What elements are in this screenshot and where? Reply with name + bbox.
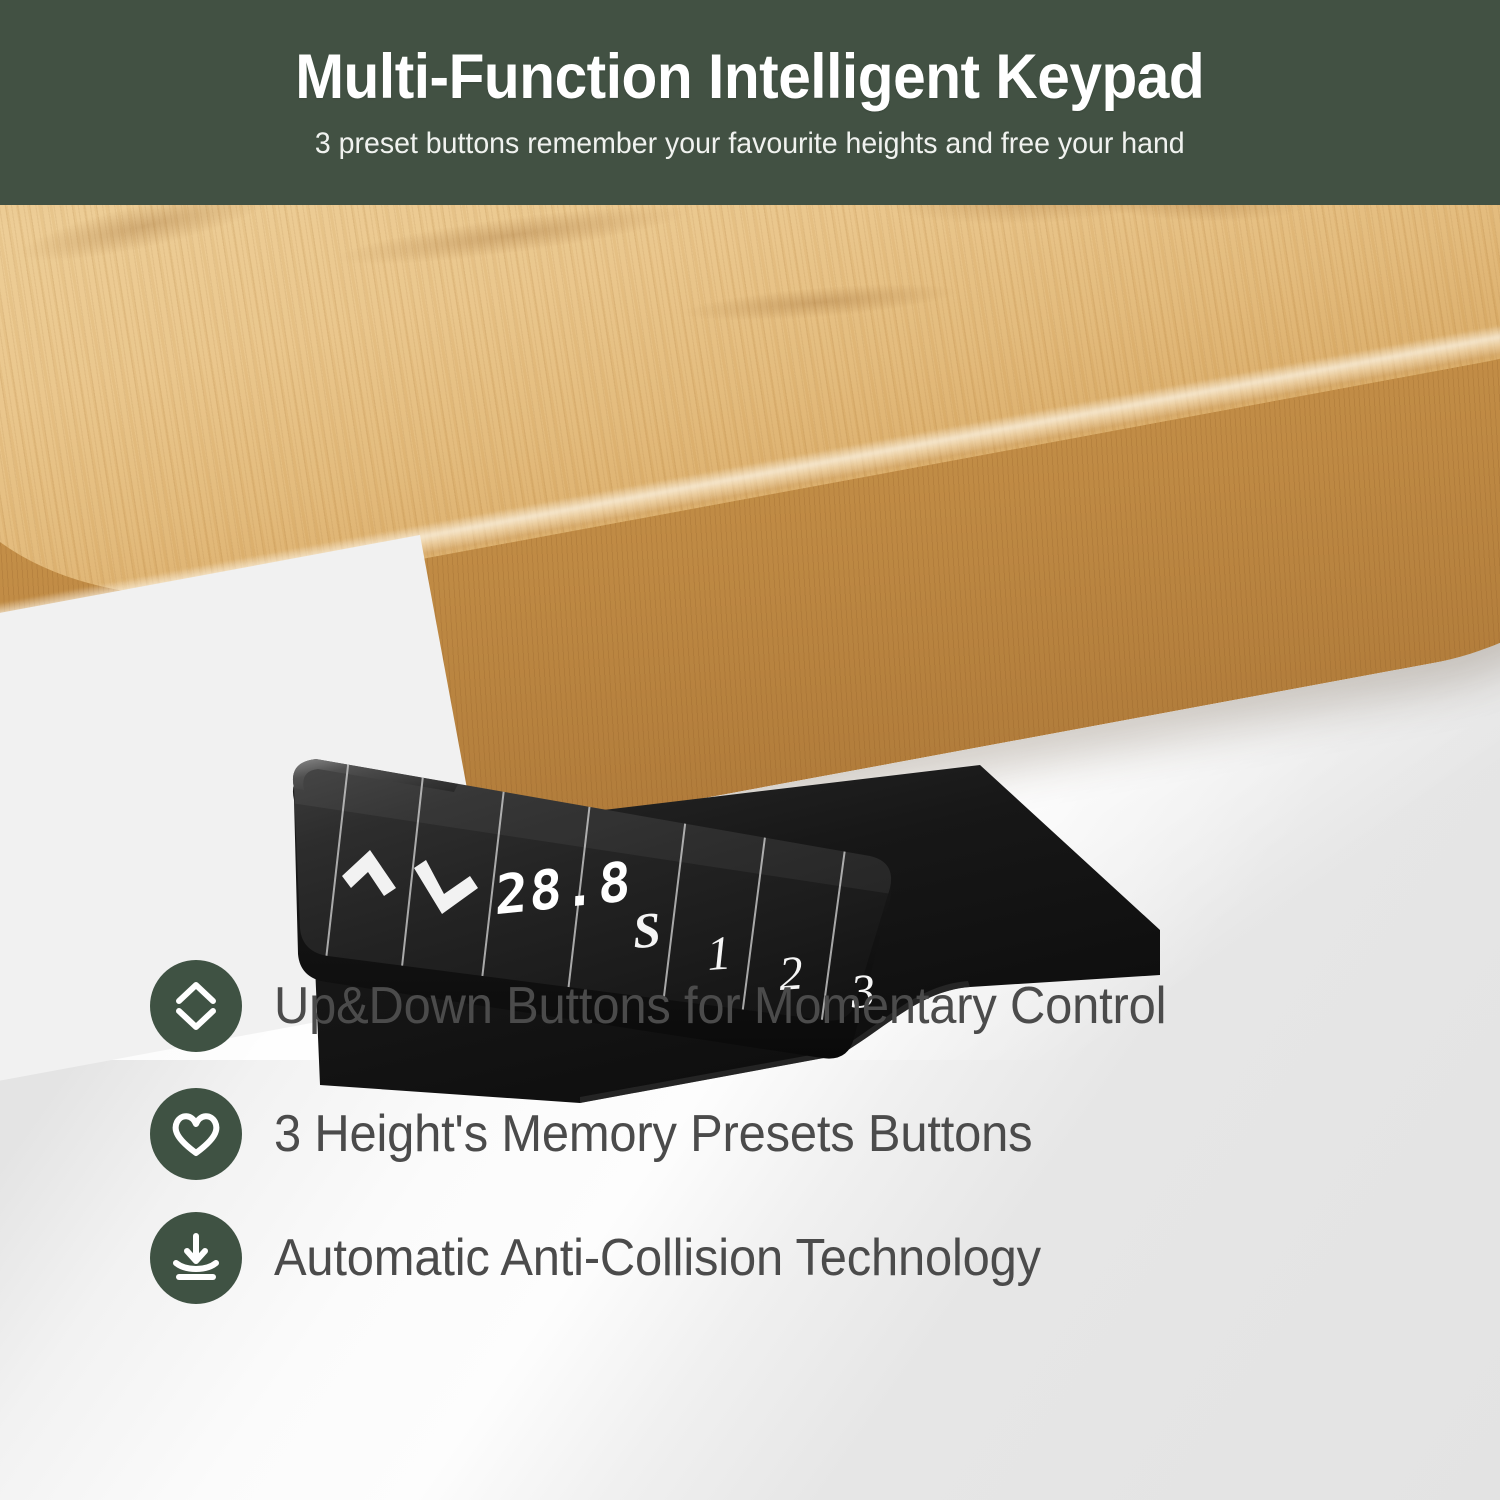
heart-icon bbox=[150, 1088, 242, 1180]
feature-item-up-down: Up&Down Buttons for Momentary Control bbox=[150, 960, 1223, 1052]
header-banner: Multi-Function Intelligent Keypad 3 pres… bbox=[0, 0, 1500, 205]
product-feature-image: Multi-Function Intelligent Keypad 3 pres… bbox=[0, 0, 1500, 1500]
page-title: Multi-Function Intelligent Keypad bbox=[295, 44, 1204, 111]
page-subtitle: 3 preset buttons remember your favourite… bbox=[315, 127, 1185, 161]
feature-item-memory-presets: 3 Height's Memory Presets Buttons bbox=[150, 1088, 1081, 1180]
feature-label: Up&Down Buttons for Momentary Control bbox=[274, 976, 1166, 1036]
anti-collision-icon bbox=[150, 1212, 242, 1304]
feature-label: 3 Height's Memory Presets Buttons bbox=[274, 1104, 1032, 1164]
desk-photo: 28.8 S 1 2 3 bbox=[0, 205, 1500, 945]
feature-label: Automatic Anti-Collision Technology bbox=[274, 1228, 1041, 1288]
feature-item-anti-collision: Automatic Anti-Collision Technology bbox=[150, 1212, 1090, 1304]
up-down-diamond-icon bbox=[150, 960, 242, 1052]
feature-list: Up&Down Buttons for Momentary Control 3 … bbox=[0, 950, 1500, 1350]
